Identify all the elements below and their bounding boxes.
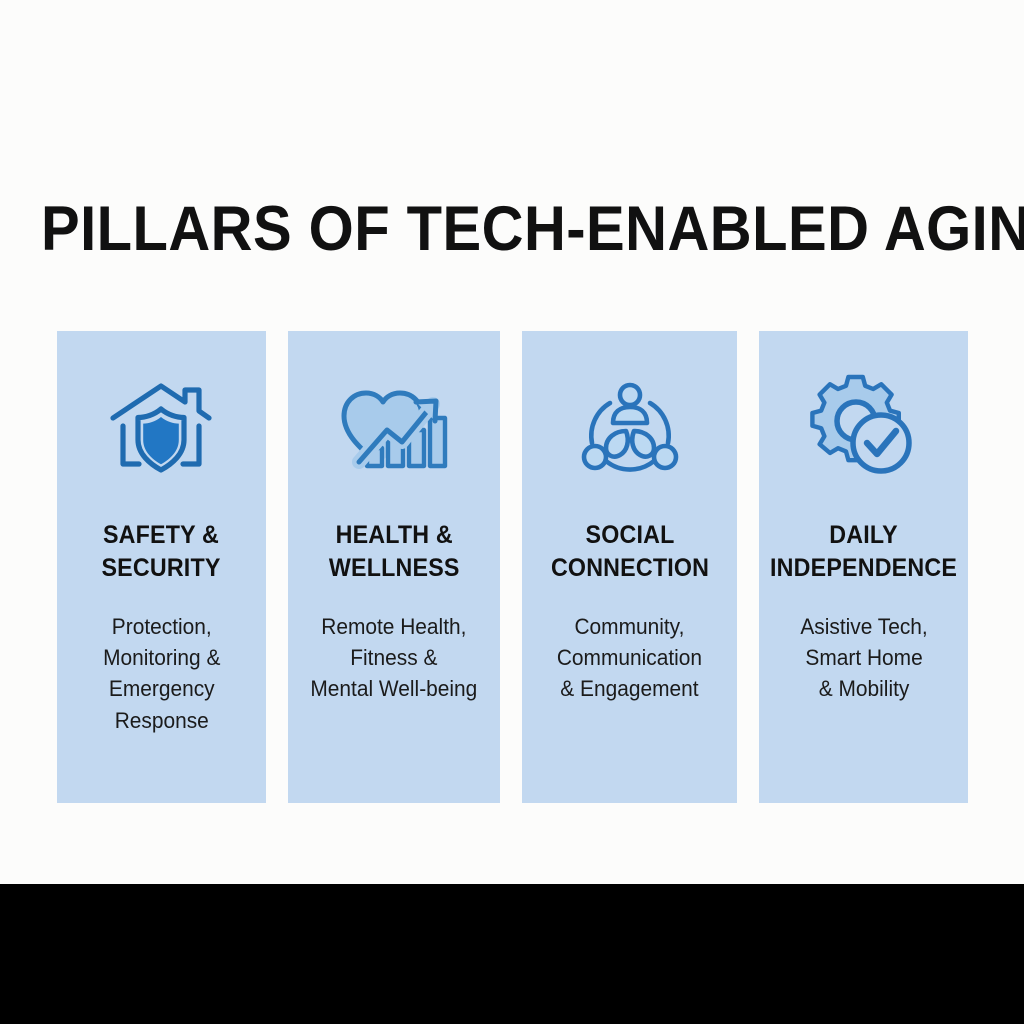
people-network-icon — [570, 378, 690, 478]
page-title: PILLARS OF TECH-ENABLED AGING — [41, 196, 983, 262]
card-heading-line2: CONNECTION — [551, 554, 709, 582]
house-shield-icon — [101, 378, 221, 478]
card-description: Remote Health, Fitness & Mental Well-bei… — [310, 611, 477, 705]
pillar-cards-row: SAFETY &SECURITY Protection, Monitoring … — [57, 331, 968, 803]
card-description: Protection, Monitoring & Emergency Respo… — [103, 611, 220, 736]
card-heading-line1: DAILY — [829, 521, 898, 549]
gear-checkmark-icon — [804, 378, 924, 478]
pillar-card-health-wellness[interactable]: HEALTH &WELLNESS Remote Health, Fitness … — [288, 331, 500, 803]
card-heading-line1: SOCIAL — [585, 521, 674, 549]
infographic-slide: PILLARS OF TECH-ENABLED AGING SAFETY &SE… — [0, 0, 1024, 1024]
pillar-card-safety-security[interactable]: SAFETY &SECURITY Protection, Monitoring … — [57, 331, 266, 803]
card-description: Community, Communication & Engagement — [557, 611, 702, 705]
bottom-black-band — [0, 884, 1024, 1024]
pillar-card-social-connection[interactable]: SOCIALCONNECTION Community, Communicatio… — [522, 331, 737, 803]
card-heading: SAFETY &SECURITY — [102, 519, 221, 585]
card-heading-line2: SECURITY — [102, 554, 221, 582]
card-heading: DAILYINDEPENDENCE — [770, 519, 957, 585]
card-description: Asistive Tech, Smart Home & Mobility — [800, 611, 927, 705]
heart-growth-chart-icon — [334, 378, 454, 478]
card-heading-line2: WELLNESS — [328, 554, 459, 582]
card-heading-line1: SAFETY & — [103, 521, 219, 549]
card-heading-line2: INDEPENDENCE — [770, 554, 957, 582]
card-heading-line1: HEALTH & — [335, 521, 452, 549]
pillar-card-daily-independence[interactable]: DAILYINDEPENDENCE Asistive Tech, Smart H… — [759, 331, 968, 803]
card-heading: HEALTH &WELLNESS — [328, 519, 459, 585]
card-heading: SOCIALCONNECTION — [551, 519, 709, 585]
